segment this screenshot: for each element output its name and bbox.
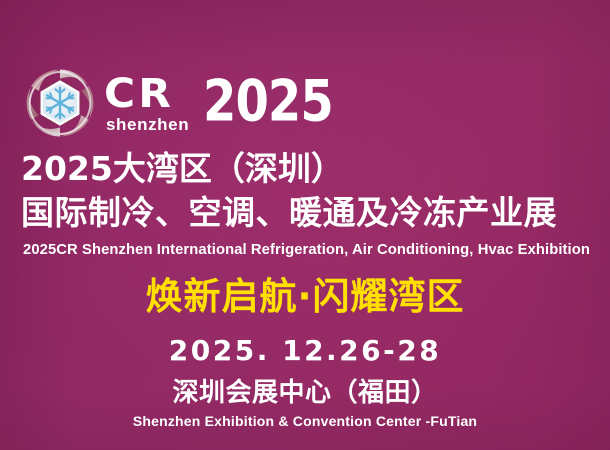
logo-brand-text: CR [104,75,194,113]
logo-year-text: 2025 [203,73,333,130]
slogan-text: 焕新启航·闪耀湾区 [0,278,610,315]
event-date: 2025. 12.26-28 [0,337,610,365]
cr-aperture-snowflake-logo [22,65,98,141]
event-venue-chinese: 深圳会展中心（福田） [0,380,610,406]
exhibition-poster: CR shenzhen 2025 2025大湾区（深圳） 国际制冷、空调、暖通及… [0,0,610,450]
headline-english-subtitle: 2025CR Shenzhen International Refrigerat… [23,242,590,257]
logo-row: CR shenzhen 2025 [22,62,338,144]
headline-line-1: 2025大湾区（深圳） [21,152,344,185]
logo-brand-subtext: shenzhen [106,116,189,133]
headline-line-2: 国际制冷、空调、暖通及冷冻产业展 [21,196,557,229]
poster-content: CR shenzhen 2025 2025大湾区（深圳） 国际制冷、空调、暖通及… [0,0,610,450]
logo-wordmark: CR shenzhen [104,73,189,133]
event-venue-english: Shenzhen Exhibition & Convention Center … [0,414,610,428]
